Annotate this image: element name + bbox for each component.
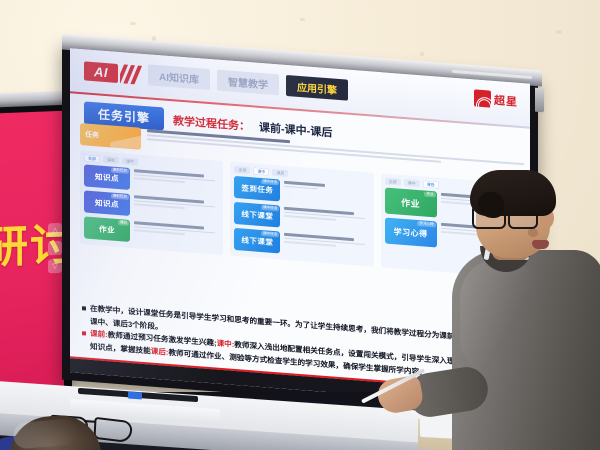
filter-pill[interactable]: 课中	[253, 167, 269, 175]
phase-label-before-class: 课前:	[90, 329, 108, 339]
wall-mark	[556, 30, 562, 34]
slide-tabs: AI知识库 智慧教学 应用引擎	[148, 64, 348, 100]
card-label: 作业	[401, 195, 420, 209]
filter-pill[interactable]: 课前	[103, 156, 119, 164]
bullet-icon	[82, 306, 86, 310]
card-label: 学习心得	[394, 226, 428, 240]
filter-pill[interactable]: 课后	[272, 169, 288, 177]
card-meta	[284, 206, 369, 223]
filter-pill[interactable]: 课中	[122, 157, 138, 165]
wall-mark	[420, 52, 424, 56]
ai-logo-icon: AI	[84, 61, 118, 83]
card-thumbnail[interactable]: 课中任务 线下课堂	[234, 228, 280, 254]
lecturer-sweater	[452, 250, 600, 450]
featured-task-card[interactable]: 任务	[80, 123, 141, 150]
lecturer	[430, 172, 600, 450]
chaoxing-logo-text: 超星	[494, 91, 518, 109]
display-side-port	[535, 88, 544, 113]
card-thumbnail[interactable]: 课中任务 线下课堂	[234, 202, 280, 228]
card-thumbnail[interactable]: 课前任务 知识点	[84, 164, 130, 190]
card-meta	[284, 232, 369, 249]
nose	[528, 228, 538, 237]
wall-mark	[130, 22, 136, 25]
glasses-lens-icon	[93, 417, 132, 444]
chip-icon[interactable]: ☆	[48, 241, 62, 256]
filter-pill[interactable]: 全部	[385, 178, 401, 186]
card-thumbnail[interactable]: 课中任务 签到任务	[234, 176, 280, 202]
tab-ai-knowledge[interactable]: AI知识库	[148, 64, 210, 90]
wall-mark	[300, 18, 305, 21]
lecturer-hair	[470, 170, 556, 216]
secondary-display-chips: △ ☆ ▽	[48, 223, 62, 274]
column-knowledge: 全部 课前 课中 课前任务 知识点 课前任务 知	[80, 150, 223, 255]
card-meta	[134, 194, 219, 211]
column-classroom: 全部 课中 课后 课中任务 签到任务 课中任务	[230, 162, 373, 267]
tab-smart-teaching[interactable]: 智慧教学	[217, 70, 279, 96]
card-thumbnail[interactable]: 课后 作业	[84, 216, 130, 242]
card-tag: 课后	[118, 220, 129, 226]
card-label: 作业	[99, 223, 115, 235]
bullet-icon	[82, 331, 86, 335]
mouth	[532, 240, 549, 249]
filter-pill[interactable]: 全部	[234, 166, 250, 174]
card-thumbnail[interactable]: 学习心得 学习心得	[385, 218, 437, 248]
ai-slash-decor-icon	[120, 64, 142, 85]
tab-application-engine[interactable]: 应用引擎	[286, 75, 348, 101]
phase-label-after-class: 课后:	[151, 346, 169, 356]
lecture-scene: 研讨 △ ☆ ▽ AI AI知识库 智慧教学 应用引擎 超星	[0, 0, 600, 450]
chaoxing-mark-icon	[474, 89, 491, 107]
card-thumbnail[interactable]: 课前任务 知识点	[84, 190, 130, 216]
blue-marker-icon	[128, 392, 142, 400]
chaoxing-logo: 超星	[474, 89, 518, 109]
card-thumbnail[interactable]: 作业 作业	[385, 188, 437, 218]
chip-icon[interactable]: ▽	[48, 259, 62, 274]
filter-pill[interactable]: 课中	[404, 179, 420, 187]
phase-label-in-class: 课中:	[217, 339, 235, 349]
filter-pill[interactable]: 全部	[84, 154, 100, 162]
secondary-display-screen[interactable]: 研讨 △ ☆ ▽	[0, 111, 64, 413]
chip-icon[interactable]: △	[48, 223, 62, 238]
card-meta	[134, 220, 219, 237]
